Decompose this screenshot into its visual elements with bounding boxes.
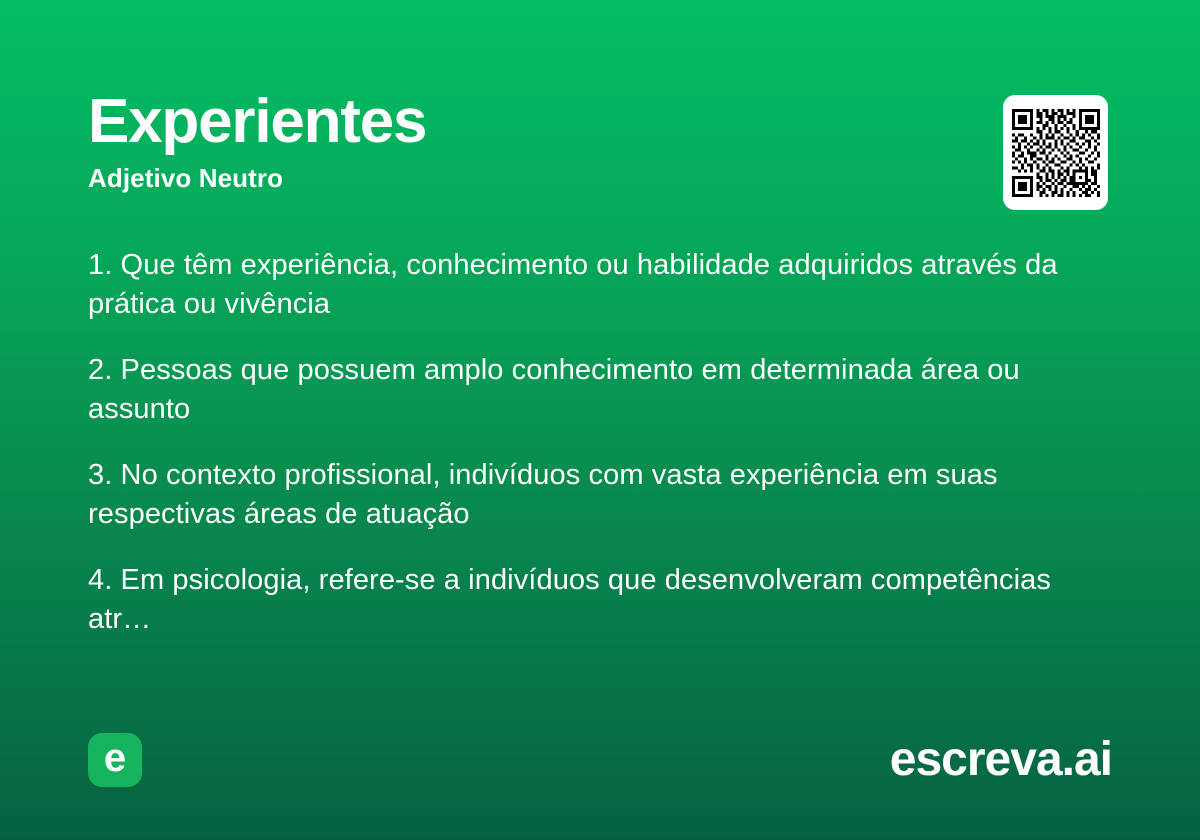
definition-item: 1. Que têm experiência, conhecimento ou … <box>88 246 1112 324</box>
escreva-logo-icon: e <box>88 733 142 787</box>
card-header: Experientes Adjetivo Neutro <box>88 88 1112 194</box>
definition-item: 2. Pessoas que possuem amplo conheciment… <box>88 351 1112 429</box>
definitions-list: 1. Que têm experiência, conhecimento ou … <box>88 246 1112 639</box>
qr-code-icon <box>1012 109 1100 197</box>
brand-wordmark: escreva.ai <box>890 734 1112 786</box>
qr-code-panel[interactable] <box>1003 95 1108 210</box>
definition-item: 4. Em psicologia, refere-se a indivíduos… <box>88 561 1112 639</box>
definition-card: Experientes Adjetivo Neutro <box>0 0 1200 840</box>
definition-item: 3. No contexto profissional, indivíduos … <box>88 456 1112 534</box>
card-footer: e escreva.ai <box>88 732 1112 788</box>
page-title: Experientes <box>88 88 1112 156</box>
word-class-subtitle: Adjetivo Neutro <box>88 162 1112 194</box>
